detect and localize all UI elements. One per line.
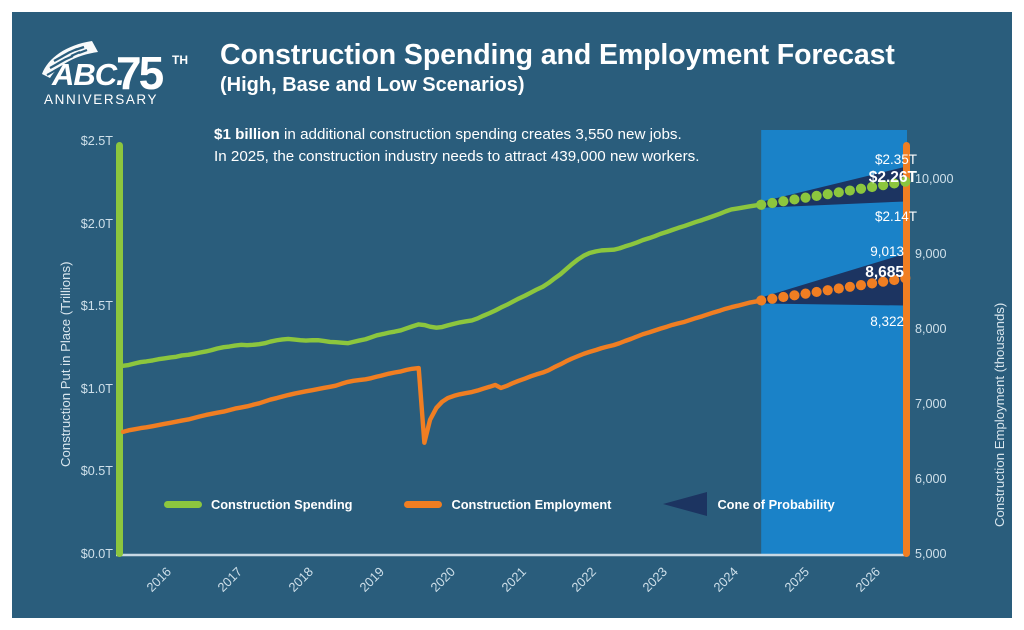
- y-axis-left-tick: $0.5T: [81, 464, 113, 478]
- y-axis-left-title: Construction Put in Place (Trillions): [58, 262, 73, 467]
- y-axis-right-title: Construction Employment (thousands): [992, 303, 1007, 527]
- legend-label-spending: Construction Spending: [211, 497, 352, 512]
- legend-item-construction-spending[interactable]: Construction Spending: [164, 497, 352, 512]
- y-axis-right-tick: 9,000: [915, 247, 947, 261]
- y-axis-right-tick: 5,000: [915, 547, 947, 561]
- y-axis-right-tick: 6,000: [915, 472, 947, 486]
- forecast-label-employment-low: 8,322: [12, 314, 904, 329]
- y-axis-right-tick: 7,000: [915, 397, 947, 411]
- chart-legend: Construction Spending Construction Emplo…: [164, 492, 835, 516]
- y-axis-left-tick: $1.0T: [81, 382, 113, 396]
- line-construction-spending: [123, 205, 761, 366]
- y-axis-left-tick: $2.5T: [81, 134, 113, 148]
- legend-item-cone-of-probability[interactable]: Cone of Probability: [663, 492, 834, 516]
- y-axis-right-tick: 10,000: [915, 172, 954, 186]
- infographic-canvas: ABC. 75 TH ANNIVERSARY Construction Spen…: [12, 12, 1012, 618]
- legend-item-construction-employment[interactable]: Construction Employment: [404, 497, 611, 512]
- y-axis-left-tick: $1.5T: [81, 299, 113, 313]
- forecast-label-spending-high: $2.35T: [12, 152, 917, 167]
- y-axis-left-bar: [116, 142, 123, 557]
- forecast-label-spending-base: $2.26T: [12, 169, 917, 187]
- y-axis-right-bar: [903, 142, 910, 557]
- forecast-label-employment-high: 9,013: [12, 244, 904, 259]
- forecast-label-spending-low: $2.14T: [12, 209, 917, 224]
- y-axis-right-tick: 8,000: [915, 322, 947, 336]
- y-axis-left-tick: $0.0T: [81, 547, 113, 561]
- legend-label-employment: Construction Employment: [451, 497, 611, 512]
- legend-swatch-spending-icon: [164, 501, 202, 508]
- forecast-label-employment-base: 8,685: [12, 264, 904, 282]
- legend-cone-icon: [663, 492, 707, 516]
- legend-label-cone: Cone of Probability: [717, 497, 834, 512]
- legend-swatch-employment-icon: [404, 501, 442, 508]
